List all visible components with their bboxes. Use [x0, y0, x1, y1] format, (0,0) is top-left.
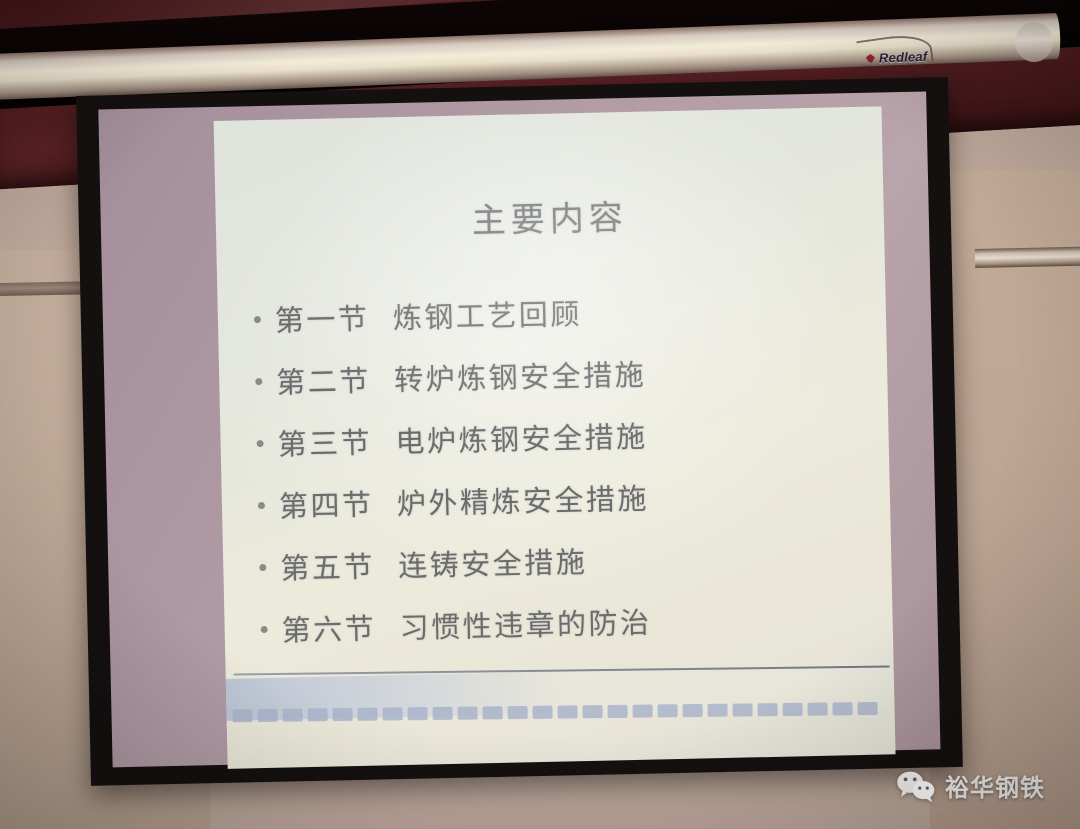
footer-dash: [333, 708, 353, 721]
watermark-label: 裕华钢铁: [945, 768, 1045, 803]
footer-dash: [408, 707, 428, 720]
projection-screen-fabric: 主要内容 第一节 炼钢工艺回顾 第二节 转炉炼钢安全措施 第三节 电炉炼钢安全措…: [98, 91, 940, 767]
footer-dash: [383, 707, 403, 720]
footer-dash: [358, 708, 378, 721]
list-item: 第二节 转炉炼钢安全措施: [249, 347, 868, 402]
footer-dash: [708, 704, 728, 717]
list-item: 第三节 电炉炼钢安全措施: [250, 409, 869, 464]
footer-dash: [308, 708, 328, 721]
footer-dash: [683, 704, 703, 717]
bullet-dot-icon: [257, 440, 264, 447]
photograph-of-projected-slide: Redleaf 主要内容 第一节 炼钢工艺回顾 第二节 转炉炼钢安全措施: [0, 0, 1080, 829]
footer-dash: [283, 708, 303, 721]
list-item: 第一节 炼钢工艺回顾: [247, 285, 866, 340]
footer-dash: [833, 702, 853, 715]
footer-dash: [733, 703, 753, 716]
footer-dash: [233, 709, 253, 722]
list-item-label: 第六节 习惯性违章的防治: [281, 600, 652, 650]
list-item-label: 第一节 炼钢工艺回顾: [274, 291, 582, 340]
list-item: 第四节 炉外精炼安全措施: [252, 471, 871, 526]
bullet-dot-icon: [254, 316, 261, 323]
projection-screen-frame: 主要内容 第一节 炼钢工艺回顾 第二节 转炉炼钢安全措施 第三节 电炉炼钢安全措…: [76, 77, 963, 786]
footer-dash: [808, 703, 828, 716]
footer-dash: [758, 703, 778, 716]
projected-slide: 主要内容 第一节 炼钢工艺回顾 第二节 转炉炼钢安全措施 第三节 电炉炼钢安全措…: [214, 106, 896, 768]
slide-title: 主要内容: [215, 184, 884, 248]
wechat-icon: [896, 769, 936, 803]
bullet-dot-icon: [261, 626, 268, 633]
footer-dash: [858, 702, 878, 715]
roller-brand-logo: Redleaf: [866, 49, 928, 66]
bullet-dot-icon: [259, 564, 266, 571]
slide-bullet-list: 第一节 炼钢工艺回顾 第二节 转炉炼钢安全措施 第三节 电炉炼钢安全措施 第四节…: [247, 285, 873, 670]
footer-dash: [458, 706, 478, 719]
footer-dash: [633, 705, 653, 718]
list-item-label: 第二节 转炉炼钢安全措施: [276, 352, 647, 402]
right-wall-trim: [975, 247, 1080, 268]
bullet-dot-icon: [255, 378, 262, 385]
footer-dash: [558, 705, 578, 718]
footer-dash: [508, 706, 528, 719]
footer-dash: [483, 706, 503, 719]
list-item-label: 第五节 连铸安全措施: [280, 539, 588, 588]
roller-brand-label: Redleaf: [879, 49, 928, 66]
footer-dash: [608, 705, 628, 718]
footer-dash: [433, 707, 453, 720]
list-item: 第六节 习惯性违章的防治: [254, 595, 873, 650]
footer-dash: [258, 709, 278, 722]
list-item: 第五节 连铸安全措施: [253, 533, 872, 588]
bullet-dot-icon: [258, 502, 265, 509]
list-item-label: 第四节 炉外精炼安全措施: [279, 476, 650, 526]
footer-dash: [533, 706, 553, 719]
wechat-watermark: 裕华钢铁: [896, 768, 1045, 803]
leaf-icon: [866, 54, 875, 63]
footer-dash: [658, 704, 678, 717]
footer-dash: [783, 703, 803, 716]
list-item-label: 第三节 电炉炼钢安全措施: [277, 414, 648, 464]
footer-dash: [583, 705, 603, 718]
